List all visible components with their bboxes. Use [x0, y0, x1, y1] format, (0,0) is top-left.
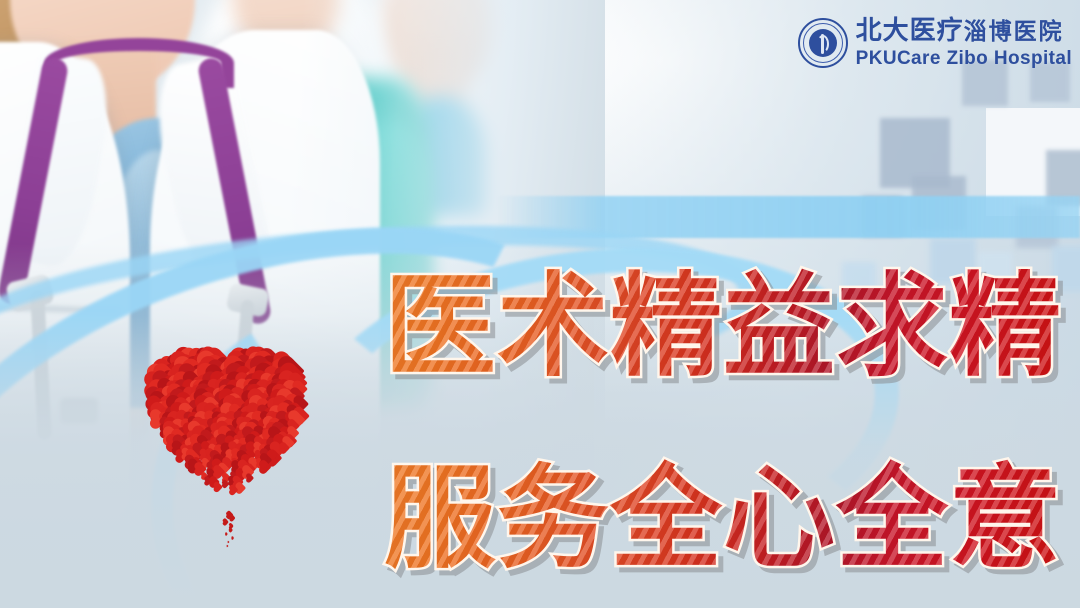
- mini-heart-icon: [236, 483, 245, 492]
- mini-heart-icon: [247, 474, 255, 482]
- headline-line-2: 服务全心全意 服务全心全意 服务全心全意: [384, 428, 1062, 590]
- hospital-logo: 北大医疗淄博医院 PKUCare Zibo Hospital: [798, 18, 1072, 68]
- hospital-name-english: PKUCare Zibo Hospital: [856, 49, 1072, 68]
- headline-line-1: 医术精益求精 医术精益求精 医术精益求精: [384, 236, 1062, 398]
- hospital-name-chinese-sub: 淄博医院: [964, 19, 1064, 45]
- hospital-seal-caduceus-icon: [798, 18, 848, 68]
- hospital-name-chinese-main: 北大医疗: [856, 16, 964, 46]
- hospital-name-chinese: 北大医疗淄博医院: [856, 18, 1072, 44]
- heart-of-hearts-graphic: [150, 358, 310, 513]
- hospital-logo-text: 北大医疗淄博医院 PKUCare Zibo Hospital: [856, 18, 1072, 68]
- headline-line-1-text: 医术精益求精: [384, 262, 1062, 392]
- poster-canvas: 医术精益求精 医术精益求精 医术精益求精 服务全心全意 服务全心全意 服务全心全…: [0, 0, 1080, 608]
- headline-line-2-text: 服务全心全意: [384, 454, 1062, 584]
